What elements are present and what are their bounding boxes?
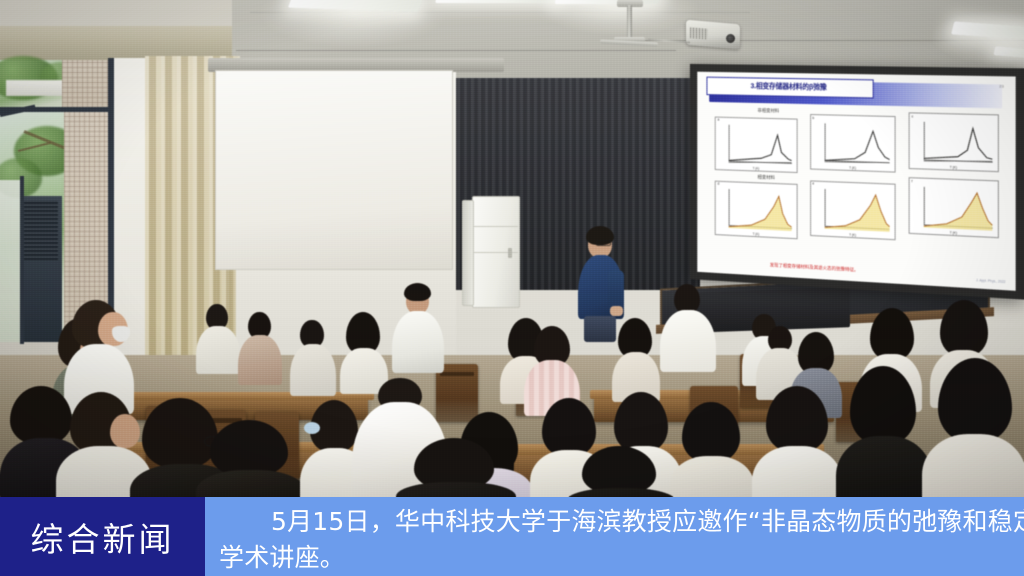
presentation-slide: 3.相变存储器材料的β弛豫 23 非相变材料 相变材料 a T (K) xyxy=(697,72,1015,291)
plot-curve xyxy=(924,187,992,231)
audience-member xyxy=(566,446,676,497)
news-caption-body: 5月15日，华中科技大学于海滨教授应邀作“非晶态物质的弛豫和稳定性” 学术讲座。 xyxy=(205,497,1024,576)
slide-footnote: 发现了相变存储材料及其退火态的弛豫特征。 xyxy=(770,262,859,273)
plot-xlabel: T (K) xyxy=(811,165,895,172)
audience-hair xyxy=(870,308,914,360)
audience-torso xyxy=(922,434,1024,497)
plot-curve xyxy=(729,189,792,231)
audience-member xyxy=(660,282,716,374)
plot-letter: d xyxy=(717,182,719,186)
slide-row2-label: 相变材料 xyxy=(758,174,775,181)
caption-line-1: 5月15日，华中科技大学于海滨教授应邀作“非晶态物质的弛豫和稳定性” xyxy=(219,504,1024,540)
plot-curve xyxy=(924,122,992,165)
ceiling-light-panel xyxy=(554,0,661,4)
plot-xlabel: T (K) xyxy=(811,231,895,239)
audience-member xyxy=(290,318,336,392)
audience-torso xyxy=(396,482,516,497)
projector-vent xyxy=(690,27,708,40)
cabinet-seam xyxy=(474,226,518,227)
plot-letter: e xyxy=(812,182,814,186)
slide-row1-label: 非相变材料 xyxy=(758,108,780,114)
window-frame-left xyxy=(20,176,24,344)
plot-xlabel: T (K) xyxy=(910,229,998,237)
attendee-torso xyxy=(392,311,444,373)
news-category-label: 综合新闻 xyxy=(0,497,205,576)
audience-member xyxy=(670,402,754,497)
audience-hair xyxy=(614,392,668,452)
plot-letter: f xyxy=(911,179,912,183)
audience-hair xyxy=(766,386,828,452)
speaker-hand xyxy=(610,306,623,316)
news-caption-bar: 综合新闻 5月15日，华中科技大学于海滨教授应邀作“非晶态物质的弛豫和稳定性” … xyxy=(0,497,1024,576)
plot-curve xyxy=(824,123,890,165)
audience-member xyxy=(836,366,932,497)
audience-member xyxy=(196,300,240,370)
lecture-photograph: 3.相变存储器材料的β弛豫 23 非相变材料 相变材料 a T (K) xyxy=(0,0,1024,497)
slide-title: 3.相变存储器材料的β弛豫 xyxy=(751,82,827,93)
slide-plot-b: b T (K) xyxy=(810,114,896,172)
plot-letter: c xyxy=(911,114,913,118)
ceiling-seam xyxy=(250,12,750,13)
slide-plot-c: c T (K) xyxy=(909,113,999,173)
audience-member xyxy=(922,358,1024,497)
audience-torso xyxy=(670,456,754,497)
slide-reference: J. Appl. Phys., 2022 xyxy=(976,278,1005,284)
slide-page-number: 23 xyxy=(999,84,1004,89)
ceiling-light-panel xyxy=(435,0,559,3)
projection-screen: 3.相变存储器材料的β弛豫 23 非相变材料 相变材料 a T (K) xyxy=(690,64,1024,300)
audience-member xyxy=(238,310,282,380)
audience-member xyxy=(752,386,842,497)
audience-torso xyxy=(836,436,932,497)
audience-hair xyxy=(940,300,988,356)
audience-torso xyxy=(196,470,306,497)
projection-screen-surface: 3.相变存储器材料的β弛豫 23 非相变材料 相变材料 a T (K) xyxy=(697,72,1015,291)
ceiling-seam xyxy=(236,50,676,51)
face-mask xyxy=(112,326,130,342)
projector-mount-rod xyxy=(627,5,632,39)
window-louver xyxy=(24,200,58,260)
white-cabinet-side xyxy=(462,200,474,306)
audience-member xyxy=(196,420,306,497)
attendee-hair xyxy=(404,283,431,301)
audience-hair xyxy=(682,402,740,462)
plot-letter: a xyxy=(717,118,719,122)
plot-curve xyxy=(824,189,890,232)
audience-torso xyxy=(196,326,240,374)
standing-attendee xyxy=(390,283,446,373)
caption-line-2: 学术讲座。 xyxy=(219,540,1024,576)
cabinet-handle[interactable] xyxy=(508,248,512,258)
audience-torso xyxy=(752,446,842,497)
audience-member xyxy=(396,438,516,497)
screenshot-root: 3.相变存储器材料的β弛豫 23 非相变材料 相变材料 a T (K) xyxy=(0,0,1024,576)
slide-plot-d: d T (K) xyxy=(715,180,797,238)
slide-plot-a: a T (K) xyxy=(715,116,797,173)
plot-xlabel: T (K) xyxy=(716,230,796,238)
plot-xlabel: T (K) xyxy=(716,166,796,173)
audience-torso xyxy=(238,335,282,385)
audience-hair xyxy=(850,366,916,444)
slide-plot-e: e T (K) xyxy=(810,180,896,240)
whiteboard xyxy=(215,70,453,270)
projector-lens xyxy=(726,34,735,43)
audience-torso xyxy=(566,488,676,497)
news-category-text: 综合新闻 xyxy=(31,513,175,561)
audience-hair xyxy=(210,420,288,476)
window-glass-pane-left xyxy=(0,180,22,342)
slide-plot-f: f T (K) xyxy=(909,178,999,239)
audience-hair xyxy=(938,358,1012,442)
audience-member xyxy=(612,318,660,396)
audience-torso xyxy=(660,310,716,372)
audience-torso xyxy=(290,344,336,396)
slide-title-box: 3.相变存储器材料的β弛豫 xyxy=(706,77,873,98)
audience-hair xyxy=(582,446,656,494)
plot-xlabel: T (K) xyxy=(910,164,998,171)
speaker-glasses xyxy=(596,240,611,246)
window-screen-mesh xyxy=(62,60,114,108)
plot-letter: b xyxy=(812,116,814,120)
plot-curve xyxy=(729,125,792,166)
hair-tie xyxy=(304,422,320,434)
